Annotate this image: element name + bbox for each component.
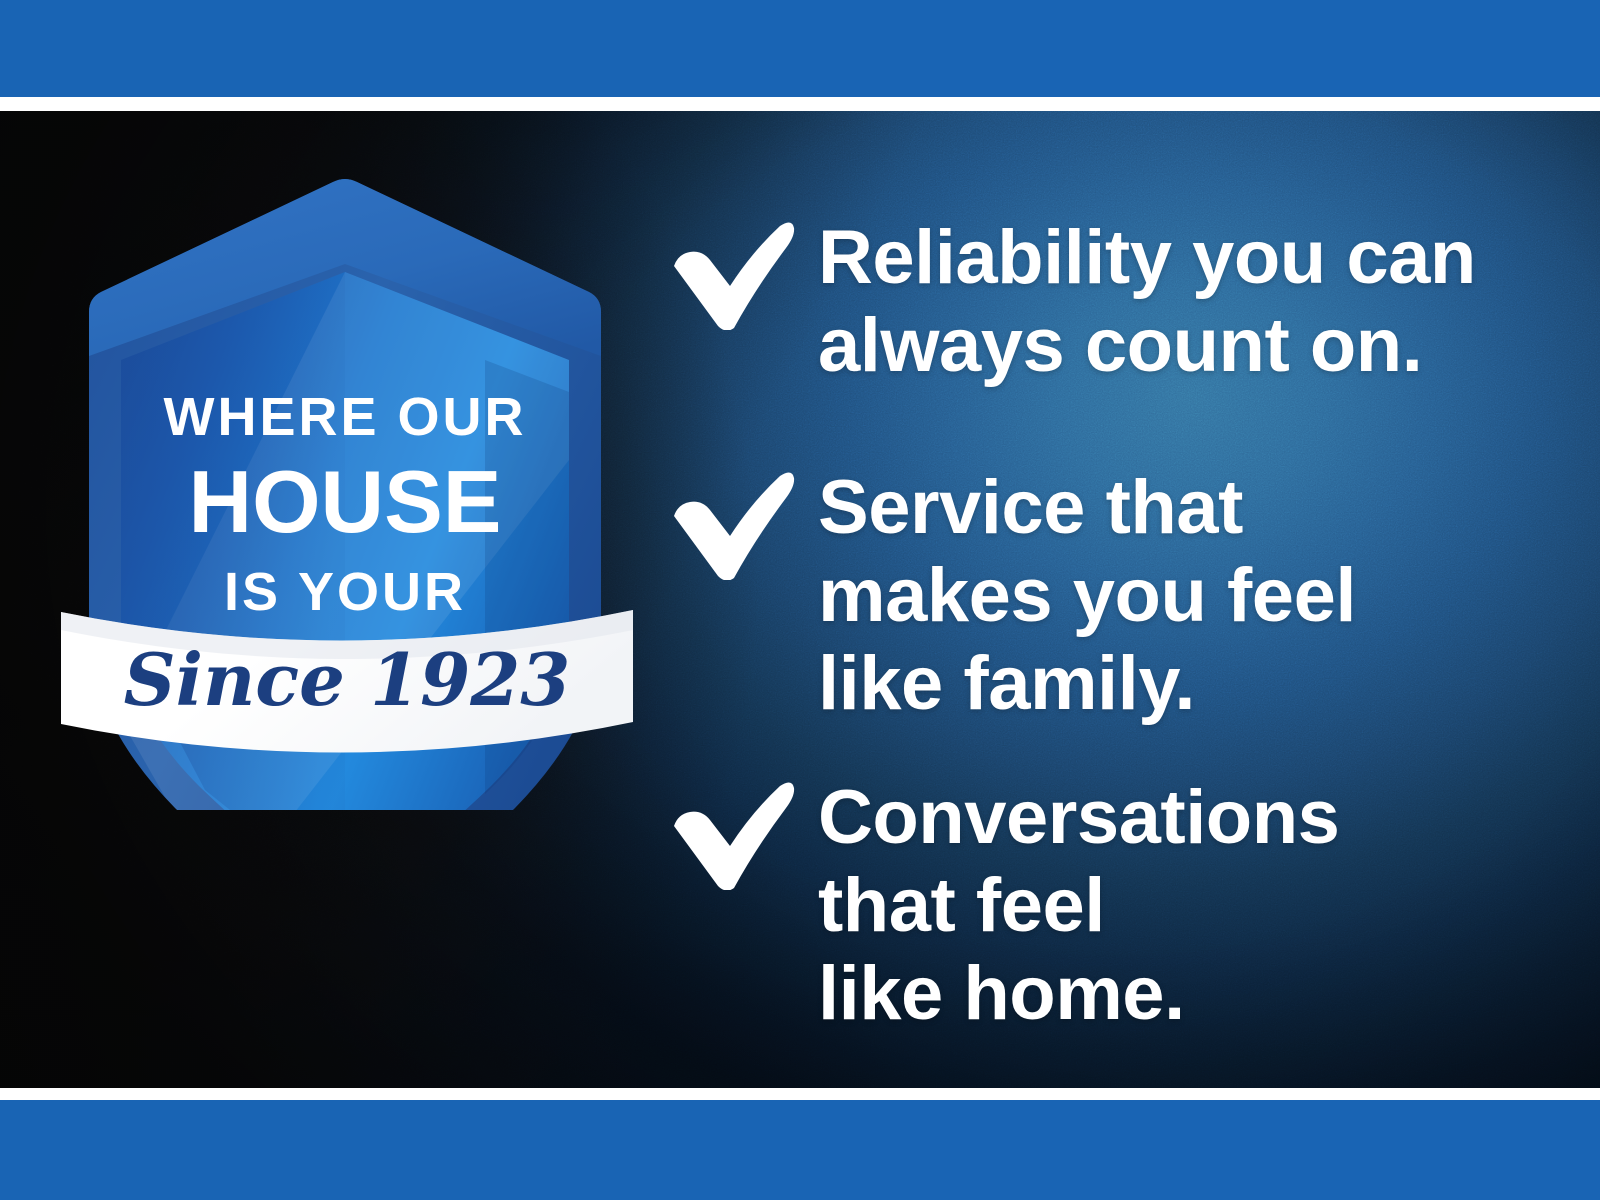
benefit-item-2: Service that makes you feel like family. bbox=[668, 464, 1568, 728]
check-icon bbox=[668, 220, 796, 330]
logo-line-3: IS YOUR bbox=[224, 562, 466, 622]
logo-ribbon-text: Since 1923 bbox=[124, 637, 571, 722]
top-brand-band bbox=[0, 0, 1600, 97]
check-icon bbox=[668, 780, 796, 890]
bottom-divider-gap bbox=[0, 1088, 1600, 1100]
benefit-text-2: Service that makes you feel like family. bbox=[818, 464, 1568, 728]
promo-graphic: WHERE OUR HOUSE IS YOUR HOUSE Since 1923… bbox=[0, 0, 1600, 1200]
logo-line-1: WHERE OUR bbox=[164, 387, 527, 447]
benefit-item-3: Conversations that feel like home. bbox=[668, 774, 1568, 1038]
logo-line-2: HOUSE bbox=[189, 452, 502, 551]
benefit-item-1: Reliability you can always count on. bbox=[668, 214, 1568, 390]
company-logo: WHERE OUR HOUSE IS YOUR HOUSE Since 1923 bbox=[55, 160, 635, 810]
benefits-list: Reliability you can always count on. Ser… bbox=[668, 111, 1568, 1088]
check-icon bbox=[668, 470, 796, 580]
bottom-brand-band bbox=[0, 1100, 1600, 1200]
top-divider-gap bbox=[0, 97, 1600, 111]
benefit-text-1: Reliability you can always count on. bbox=[818, 214, 1568, 390]
benefit-text-3: Conversations that feel like home. bbox=[818, 774, 1568, 1038]
